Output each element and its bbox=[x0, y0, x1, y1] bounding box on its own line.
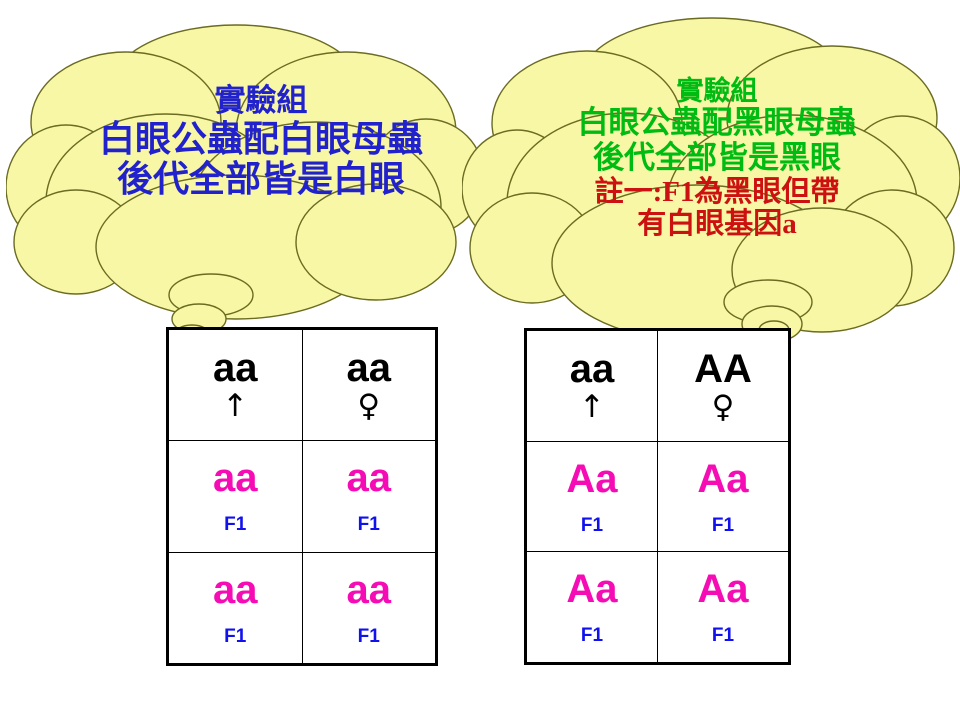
generation-label: F1 bbox=[224, 515, 246, 534]
offspring-genotype: Aa bbox=[697, 459, 748, 499]
slide-canvas: 實驗組 白眼公蟲配白眼母蟲 後代全部皆是白眼 bbox=[0, 0, 960, 720]
offspring-genotype: Aa bbox=[697, 569, 748, 609]
offspring-cell: Aa F1 bbox=[658, 442, 788, 552]
female-symbol-icon: ♀ bbox=[712, 392, 735, 423]
generation-label: F1 bbox=[581, 516, 603, 535]
generation-label: F1 bbox=[712, 516, 734, 535]
thought-cloud-left-text: 實驗組 白眼公蟲配白眼母蟲 後代全部皆是白眼 bbox=[66, 84, 456, 199]
offspring-cell: aa F1 bbox=[169, 553, 303, 663]
offspring-genotype: aa bbox=[213, 458, 258, 498]
table-row: aa F1 aa F1 bbox=[169, 553, 435, 663]
offspring-genotype: aa bbox=[347, 458, 392, 498]
table-row: aa ↑ AA ♀ bbox=[527, 331, 788, 442]
parent-genotype: aa bbox=[213, 348, 258, 388]
parent-genotype: aa bbox=[570, 349, 615, 389]
parent-genotype: aa bbox=[347, 348, 392, 388]
table-row: aa F1 aa F1 bbox=[169, 441, 435, 552]
punnett-square-left: aa ↑ aa ♀ aa F1 aa F1 aa F1 bbox=[166, 327, 438, 666]
table-row: Aa F1 Aa F1 bbox=[527, 552, 788, 662]
parent-genotype: AA bbox=[694, 349, 752, 389]
offspring-cell: aa F1 bbox=[169, 441, 303, 551]
parent-cell-female: AA ♀ bbox=[658, 331, 788, 441]
offspring-genotype: Aa bbox=[566, 459, 617, 499]
cloud-left-line-3: 後代全部皆是白眼 bbox=[66, 159, 456, 199]
offspring-genotype: aa bbox=[213, 570, 258, 610]
generation-label: F1 bbox=[358, 515, 380, 534]
thought-cloud-right: 實驗組 白眼公蟲配黑眼母蟲 後代全部皆是黑眼 註一:F1為黑眼但帶 有白眼基因a bbox=[462, 8, 960, 358]
thought-cloud-left: 實驗組 白眼公蟲配白眼母蟲 後代全部皆是白眼 bbox=[6, 12, 486, 342]
table-row: aa ↑ aa ♀ bbox=[169, 330, 435, 441]
cloud-right-note-1: 註一:F1為黑眼但帶 bbox=[522, 176, 912, 208]
offspring-cell: Aa F1 bbox=[527, 442, 658, 552]
parent-cell-male: aa ↑ bbox=[527, 331, 658, 441]
parent-cell-male: aa ↑ bbox=[169, 330, 303, 440]
offspring-genotype: aa bbox=[347, 570, 392, 610]
generation-label: F1 bbox=[712, 626, 734, 645]
offspring-cell: Aa F1 bbox=[527, 552, 658, 662]
cloud-right-line-3: 後代全部皆是黑眼 bbox=[522, 141, 912, 176]
generation-label: F1 bbox=[224, 627, 246, 646]
cloud-left-line-1: 實驗組 bbox=[66, 84, 456, 119]
generation-label: F1 bbox=[581, 626, 603, 645]
offspring-cell: aa F1 bbox=[303, 553, 436, 663]
cloud-right-line-2: 白眼公蟲配黑眼母蟲 bbox=[522, 106, 912, 141]
cloud-right-line-1: 實驗組 bbox=[522, 76, 912, 106]
offspring-cell: Aa F1 bbox=[658, 552, 788, 662]
punnett-square-right: aa ↑ AA ♀ Aa F1 Aa F1 Aa F1 bbox=[524, 328, 791, 665]
table-row: Aa F1 Aa F1 bbox=[527, 442, 788, 553]
thought-cloud-right-text: 實驗組 白眼公蟲配黑眼母蟲 後代全部皆是黑眼 註一:F1為黑眼但帶 有白眼基因a bbox=[522, 76, 912, 241]
female-symbol-icon: ♀ bbox=[357, 391, 380, 422]
offspring-genotype: Aa bbox=[566, 569, 617, 609]
generation-label: F1 bbox=[358, 627, 380, 646]
male-symbol-icon: ↑ bbox=[222, 391, 248, 422]
cloud-left-line-2: 白眼公蟲配白眼母蟲 bbox=[66, 119, 456, 159]
offspring-cell: aa F1 bbox=[303, 441, 436, 551]
parent-cell-female: aa ♀ bbox=[303, 330, 436, 440]
male-symbol-icon: ↑ bbox=[579, 392, 605, 423]
cloud-right-note-2: 有白眼基因a bbox=[522, 208, 912, 240]
